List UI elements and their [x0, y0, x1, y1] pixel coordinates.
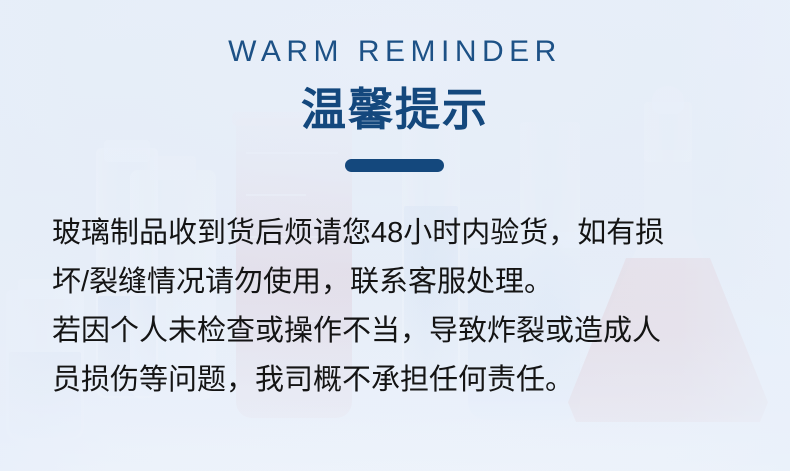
notice-line-1: 玻璃制品收到货后烦请您48小时内验货，如有损: [52, 209, 752, 258]
headline-chinese: 温馨提示: [0, 82, 790, 138]
headline-english: WARM REMINDER: [0, 34, 790, 70]
warm-reminder-banner: WARM REMINDER 温馨提示 玻璃制品收到货后烦请您48小时内验货，如有…: [0, 0, 790, 471]
notice-line-3: 若因个人未检查或操作不当，导致炸裂或造成人: [52, 307, 752, 356]
divider-bar: [345, 159, 444, 172]
notice-line-4: 员损伤等问题，我司概不承担任何责任。: [52, 356, 752, 405]
notice-body: 玻璃制品收到货后烦请您48小时内验货，如有损 坏/裂缝情况请勿使用，联系客服处理…: [52, 209, 752, 405]
notice-line-2: 坏/裂缝情况请勿使用，联系客服处理。: [52, 258, 752, 307]
banner-content: WARM REMINDER 温馨提示 玻璃制品收到货后烦请您48小时内验货，如有…: [0, 0, 790, 471]
